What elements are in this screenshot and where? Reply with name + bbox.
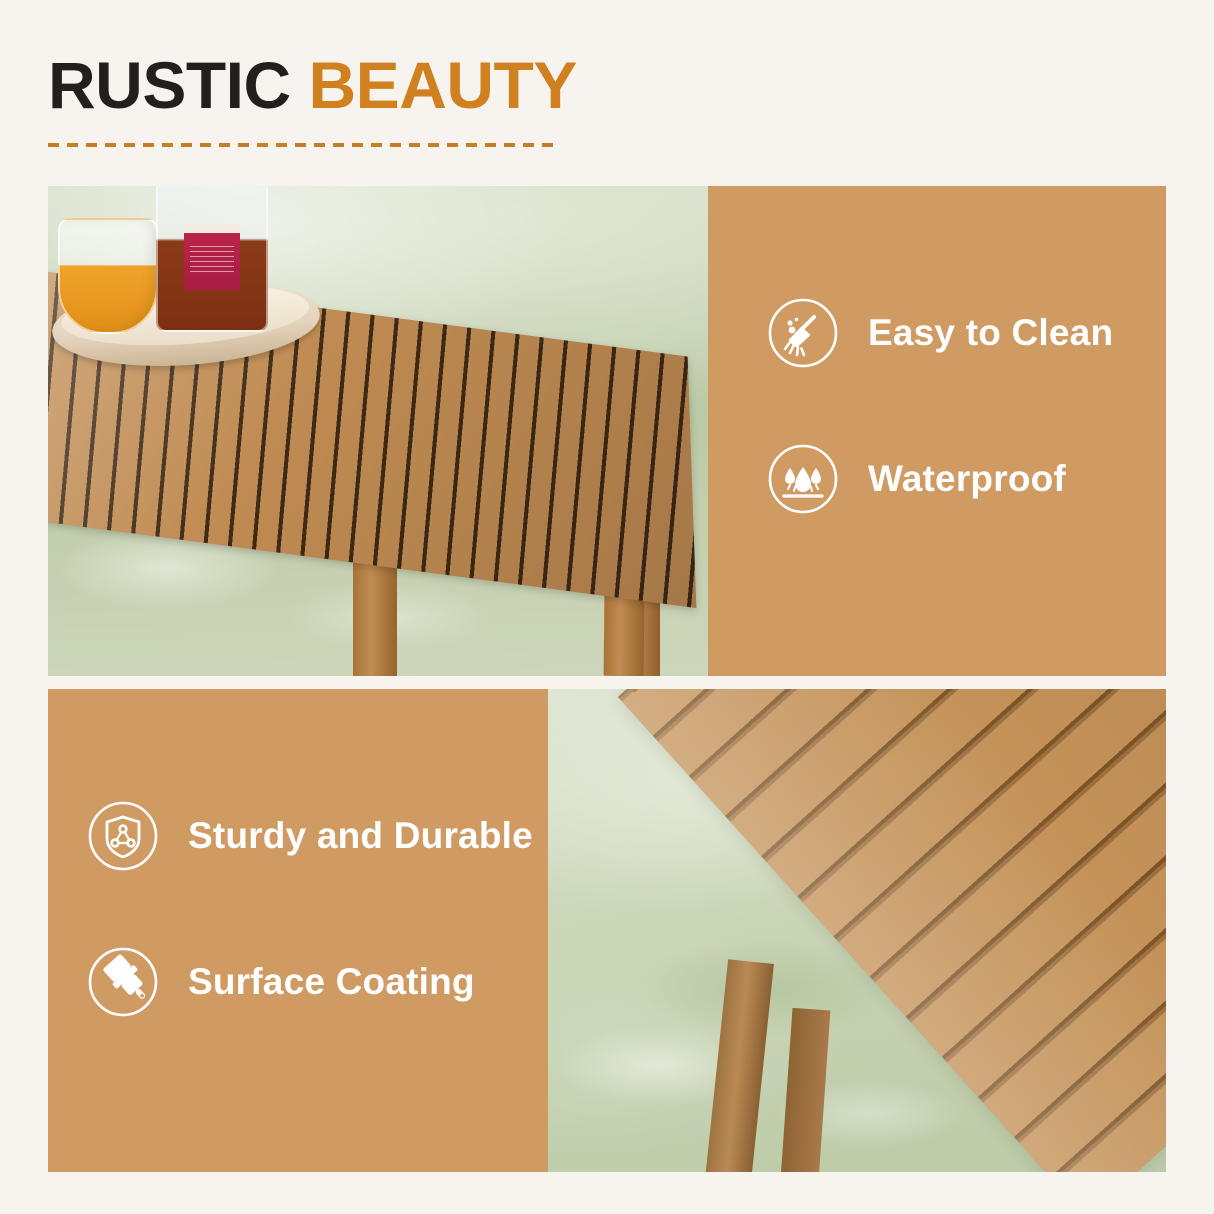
feature-label: Surface Coating <box>188 961 475 1003</box>
bottom-content-row: Sturdy and Durable Surf <box>48 689 1166 1172</box>
photo-table-corner-closeup <box>548 689 1166 1172</box>
feature-panel-top-right: Easy to Clean Waterproof <box>708 186 1166 676</box>
feature-item: Sturdy and Durable <box>86 799 533 873</box>
glass-of-amber-drink <box>58 218 158 334</box>
feature-label: Sturdy and Durable <box>188 815 533 857</box>
water-drop-icon <box>766 442 840 516</box>
top-content-row: Easy to Clean Waterproof <box>48 186 1166 676</box>
page-title-primary: RUSTIC <box>48 48 291 122</box>
feature-list-bottom: Sturdy and Durable Surf <box>86 799 533 1019</box>
dashed-divider <box>48 143 558 147</box>
feature-list-top: Easy to Clean Waterproof <box>766 296 1113 516</box>
feature-item: Easy to Clean <box>766 296 1113 370</box>
feature-label: Easy to Clean <box>868 312 1113 354</box>
feature-label: Waterproof <box>868 458 1066 500</box>
page-title-accent: BEAUTY <box>309 48 577 122</box>
feature-item: Waterproof <box>766 442 1113 516</box>
feature-panel-bottom-left: Sturdy and Durable Surf <box>48 689 548 1172</box>
broom-icon <box>766 296 840 370</box>
bottle-label <box>184 224 240 290</box>
shield-icon <box>86 799 160 873</box>
bottle-with-red-label <box>156 186 268 332</box>
photo-table-with-drinks <box>48 186 708 676</box>
feature-item: Surface Coating <box>86 945 533 1019</box>
paint-brush-icon <box>86 945 160 1019</box>
page-title: RUSTIC BEAUTY <box>48 52 577 118</box>
